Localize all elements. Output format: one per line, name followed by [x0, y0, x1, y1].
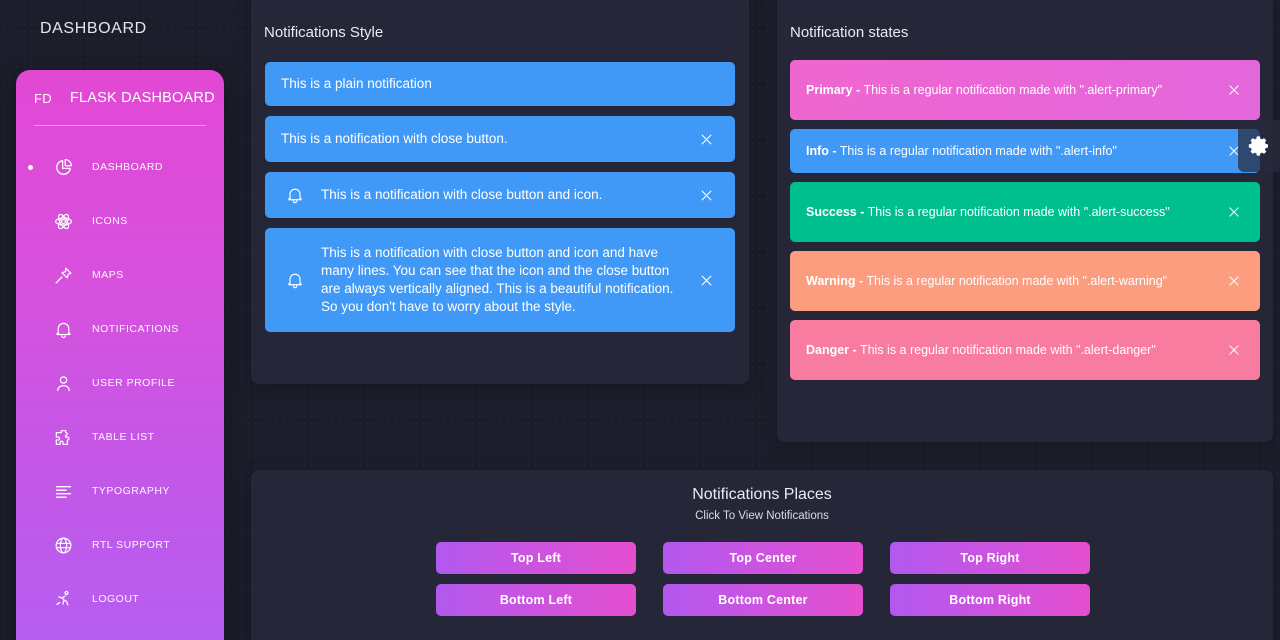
sidebar-item-label: NOTIFICATIONS — [92, 323, 179, 335]
alert-label: Danger - — [806, 343, 857, 357]
sidebar-item-table-list[interactable]: TABLE LIST — [16, 410, 224, 464]
notifications-style-list: This is a plain notification This is a n… — [265, 62, 735, 332]
close-icon[interactable] — [1222, 269, 1246, 293]
notification-states-card: Notification states Primary - This is a … — [777, 0, 1273, 442]
bottom-center-button[interactable]: Bottom Center — [663, 584, 863, 616]
alert-label: Info - — [806, 144, 837, 158]
top-center-button[interactable]: Top Center — [663, 542, 863, 574]
notification-states-list: Primary - This is a regular notification… — [790, 60, 1260, 380]
alert-text: Info - This is a regular notification ma… — [806, 142, 1222, 160]
sidebar-item-icons[interactable]: ICONS — [16, 194, 224, 248]
close-icon[interactable] — [1222, 338, 1246, 362]
sidebar-item-label: RTL SUPPORT — [92, 539, 170, 551]
notification-plain: This is a plain notification — [265, 62, 735, 106]
alert-danger: Danger - This is a regular notification … — [790, 320, 1260, 380]
sidebar-divider — [34, 125, 206, 126]
alert-label: Warning - — [806, 274, 863, 288]
pin-icon — [52, 264, 74, 286]
alert-warning: Warning - This is a regular notification… — [790, 251, 1260, 311]
sidebar-item-typography[interactable]: TYPOGRAPHY — [16, 464, 224, 518]
alert-message: This is a regular notification made with… — [864, 205, 1169, 219]
top-right-button[interactable]: Top Right — [890, 542, 1090, 574]
settings-panel-toggle[interactable] — [1238, 120, 1280, 172]
card-title: Notification states — [790, 24, 908, 41]
bottom-left-button[interactable]: Bottom Left — [436, 584, 636, 616]
pie-chart-icon — [52, 156, 74, 178]
sidebar-item-maps[interactable]: MAPS — [16, 248, 224, 302]
sidebar: FD FLASK DASHBOARD DASHBOARD — [16, 70, 224, 640]
sidebar-item-label: TABLE LIST — [92, 431, 155, 443]
places-subtitle: Click To View Notifications — [251, 510, 1273, 522]
top-left-button[interactable]: Top Left — [436, 542, 636, 574]
alert-text: Primary - This is a regular notification… — [806, 81, 1222, 99]
notification-multiline: This is a notification with close button… — [265, 228, 735, 332]
alert-message: This is a regular notification made with… — [860, 83, 1162, 97]
notification-text: This is a notification with close button… — [281, 130, 683, 148]
notification-text: This is a notification with close button… — [321, 244, 683, 316]
runner-icon — [52, 588, 74, 610]
alert-message: This is a regular notification made with… — [857, 343, 1156, 357]
sidebar-item-label: DASHBOARD — [92, 161, 163, 173]
alert-info: Info - This is a regular notification ma… — [790, 129, 1260, 173]
atom-icon — [52, 210, 74, 232]
bell-icon — [52, 318, 74, 340]
alert-primary: Primary - This is a regular notification… — [790, 60, 1260, 120]
sidebar-item-notifications[interactable]: NOTIFICATIONS — [16, 302, 224, 356]
brand-abbreviation: FD — [34, 91, 52, 106]
sidebar-item-label: TYPOGRAPHY — [92, 485, 170, 497]
sidebar-nav: DASHBOARD ICONS MAPS — [16, 140, 224, 626]
close-icon[interactable] — [693, 267, 719, 293]
sidebar-item-label: LOGOUT — [92, 593, 139, 605]
close-icon[interactable] — [693, 182, 719, 208]
places-button-grid: Top Left Top Center Top Right Bottom Lef… — [436, 542, 1091, 616]
sidebar-item-rtl-support[interactable]: RTL SUPPORT — [16, 518, 224, 572]
alert-message: This is a regular notification made with… — [863, 274, 1167, 288]
notification-text: This is a plain notification — [281, 75, 719, 93]
gear-icon — [1247, 134, 1271, 158]
close-icon[interactable] — [1222, 200, 1246, 224]
notification-text: This is a notification with close button… — [321, 186, 683, 204]
notifications-style-card: Notifications Style This is a plain noti… — [251, 0, 749, 384]
sidebar-brand[interactable]: FD FLASK DASHBOARD — [16, 70, 224, 106]
puzzle-icon — [52, 426, 74, 448]
sidebar-item-label: ICONS — [92, 215, 128, 227]
sidebar-item-dashboard[interactable]: DASHBOARD — [16, 140, 224, 194]
alert-text: Success - This is a regular notification… — [806, 203, 1222, 221]
bell-icon — [281, 182, 309, 208]
user-icon — [52, 372, 74, 394]
bottom-right-button[interactable]: Bottom Right — [890, 584, 1090, 616]
notifications-places-card: Notifications Places Click To View Notif… — [251, 470, 1273, 640]
alert-text: Warning - This is a regular notification… — [806, 272, 1222, 290]
notification-with-close-and-icon: This is a notification with close button… — [265, 172, 735, 218]
sidebar-item-label: USER PROFILE — [92, 377, 175, 389]
alert-success: Success - This is a regular notification… — [790, 182, 1260, 242]
notification-with-close: This is a notification with close button… — [265, 116, 735, 162]
brand-name: FLASK DASHBOARD — [70, 90, 215, 106]
close-icon[interactable] — [1222, 78, 1246, 102]
places-title: Notifications Places — [251, 486, 1273, 504]
bell-icon — [281, 267, 309, 293]
alert-label: Success - — [806, 205, 864, 219]
card-title: Notifications Style — [264, 24, 383, 41]
active-indicator-dot — [28, 165, 33, 170]
sidebar-item-label: MAPS — [92, 269, 124, 281]
alert-message: This is a regular notification made with… — [837, 144, 1117, 158]
text-align-icon — [52, 480, 74, 502]
sidebar-item-user-profile[interactable]: USER PROFILE — [16, 356, 224, 410]
alert-text: Danger - This is a regular notification … — [806, 341, 1222, 359]
sidebar-item-logout[interactable]: LOGOUT — [16, 572, 224, 626]
page-title: DASHBOARD — [40, 20, 147, 38]
globe-icon — [52, 534, 74, 556]
close-icon[interactable] — [693, 126, 719, 152]
alert-label: Primary - — [806, 83, 860, 97]
